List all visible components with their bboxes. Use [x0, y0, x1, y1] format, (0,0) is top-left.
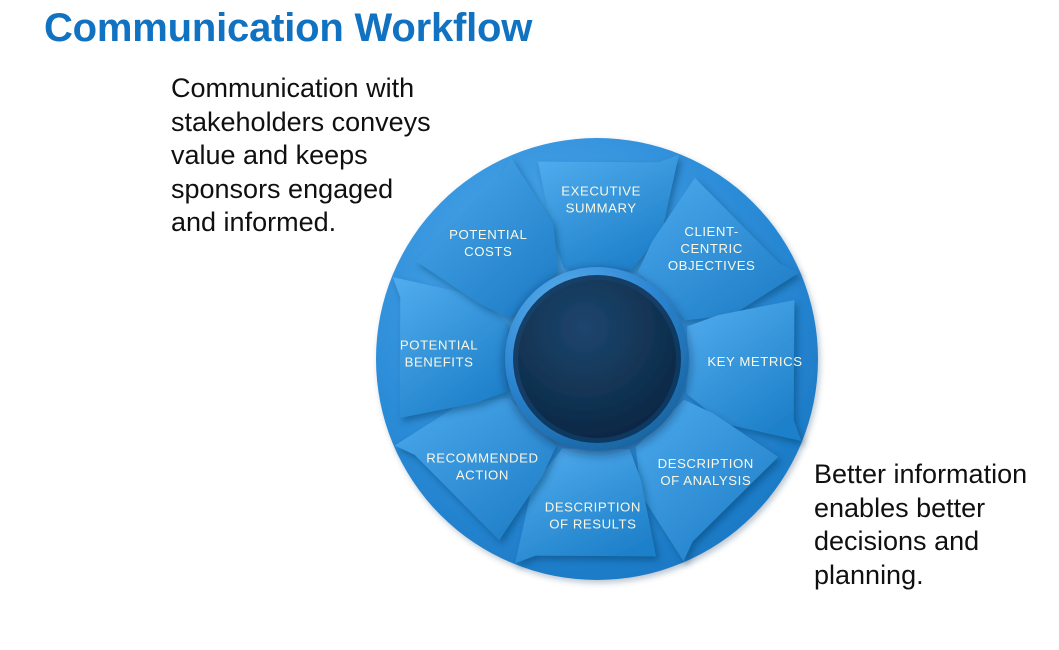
right-body-text: Better information enables better decisi…	[814, 458, 1059, 592]
wheel-hub	[505, 267, 689, 451]
hub-core	[518, 280, 676, 438]
segment-label-key-metrics: KEY METRICS	[707, 355, 802, 370]
wheel-svg: EXECUTIVESUMMARYCLIENT-CENTRICOBJECTIVES…	[362, 126, 832, 596]
communication-workflow-wheel: EXECUTIVESUMMARYCLIENT-CENTRICOBJECTIVES…	[362, 126, 832, 596]
page-title: Communication Workflow	[44, 2, 532, 54]
